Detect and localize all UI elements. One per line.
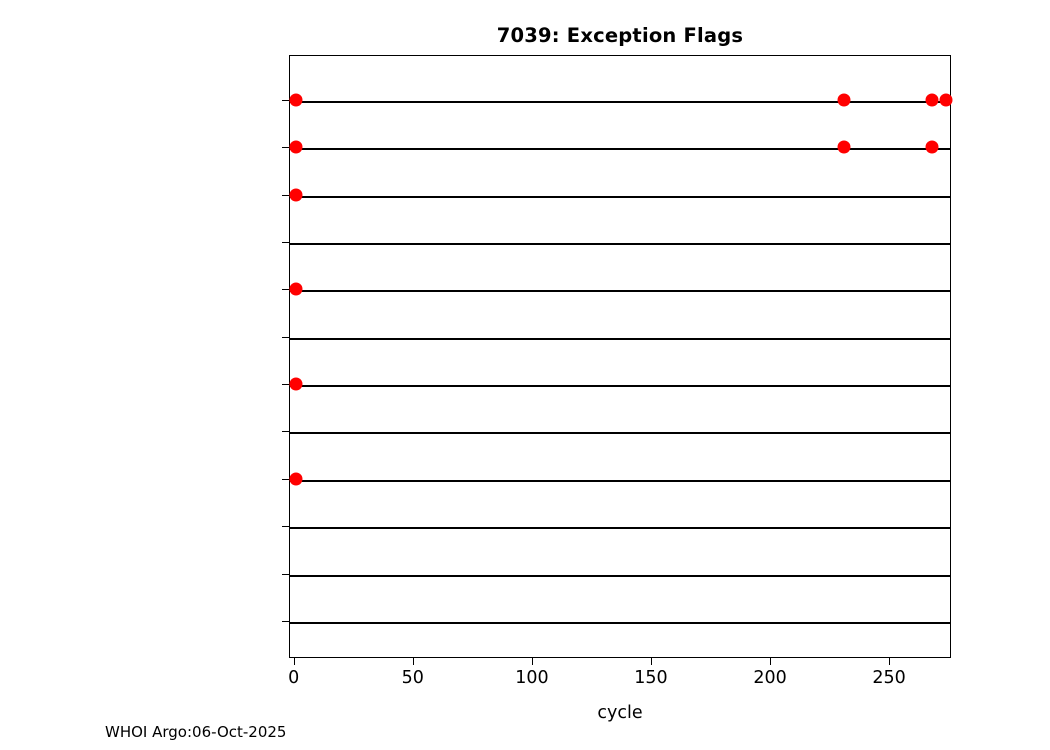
data-point [290, 472, 303, 485]
x-tick-mark [651, 658, 652, 665]
x-axis-label: cycle [289, 703, 951, 723]
y-tick-mark [282, 431, 289, 432]
y-tick-mark [282, 526, 289, 527]
exception-flags-figure: 7039: Exception Flags VALVE FAILED TO OP… [0, 0, 1050, 750]
y-tick-mark [282, 100, 289, 101]
y-tick-mark [282, 289, 289, 290]
x-tick-mark [770, 658, 771, 665]
data-point [290, 283, 303, 296]
flag-row-line [290, 290, 950, 292]
data-point [290, 94, 303, 107]
data-point [290, 141, 303, 154]
data-point [940, 94, 953, 107]
x-tick-mark [889, 658, 890, 665]
flag-row-line [290, 338, 950, 340]
y-tick-mark [282, 621, 289, 622]
footer-note: WHOI Argo:06-Oct-2025 [105, 723, 286, 741]
data-point [290, 188, 303, 201]
y-tick-mark [282, 337, 289, 338]
flag-row-line [290, 527, 950, 529]
flag-row-line [290, 148, 950, 150]
flag-row-line [290, 480, 950, 482]
data-point [925, 94, 938, 107]
x-tick-label: 250 [872, 668, 905, 688]
flag-row-line [290, 622, 950, 624]
flag-row-line [290, 575, 950, 577]
data-point [837, 141, 850, 154]
x-tick-label: 100 [515, 668, 548, 688]
y-tick-mark [282, 479, 289, 480]
data-point [837, 94, 850, 107]
flag-row-line [290, 432, 950, 434]
x-tick-label: 0 [288, 668, 299, 688]
flag-row-line [290, 243, 950, 245]
x-tick-mark [413, 658, 414, 665]
x-tick-label: 150 [634, 668, 667, 688]
chart-title: 7039: Exception Flags [289, 24, 951, 47]
data-point [925, 141, 938, 154]
flag-row-line [290, 101, 950, 103]
flag-row-line [290, 196, 950, 198]
y-tick-mark [282, 147, 289, 148]
x-tick-mark [532, 658, 533, 665]
flag-row-line [290, 385, 950, 387]
y-tick-mark [282, 384, 289, 385]
x-tick-label: 200 [753, 668, 786, 688]
plot-area [289, 55, 951, 658]
x-tick-label: 50 [402, 668, 424, 688]
y-tick-mark [282, 574, 289, 575]
data-point [290, 378, 303, 391]
y-tick-mark [282, 242, 289, 243]
y-tick-mark [282, 195, 289, 196]
x-tick-mark [294, 658, 295, 665]
